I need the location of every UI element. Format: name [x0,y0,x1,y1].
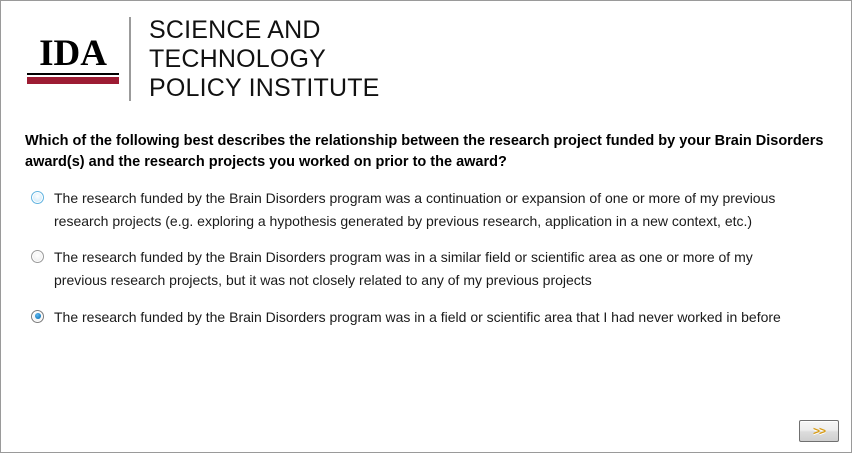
institute-line-2: TECHNOLOGY [149,45,380,74]
institute-name: SCIENCE AND TECHNOLOGY POLICY INSTITUTE [149,17,380,101]
radio-button-icon-1[interactable] [31,191,44,204]
radio-option-label-1: The research funded by the Brain Disorde… [54,187,799,232]
radio-group: The research funded by the Brain Disorde… [31,187,851,328]
logo-divider [129,17,131,101]
radio-option-1[interactable]: The research funded by the Brain Disorde… [31,187,851,232]
radio-button-icon-3[interactable] [31,310,44,323]
question-text: Which of the following best describes th… [25,131,825,173]
radio-button-icon-2[interactable] [31,250,44,263]
brand-header: IDA SCIENCE AND TECHNOLOGY POLICY INSTIT… [1,1,851,101]
radio-option-label-2: The research funded by the Brain Disorde… [54,246,799,291]
institute-line-3: POLICY INSTITUTE [149,74,380,103]
radio-option-2[interactable]: The research funded by the Brain Disorde… [31,246,851,291]
ida-black-rule [27,73,119,75]
institute-line-1: SCIENCE AND [149,16,380,45]
ida-red-bar [27,77,119,84]
next-page-button[interactable]: >> [799,420,839,442]
ida-wordmark: IDA [27,35,119,72]
radio-option-3[interactable]: The research funded by the Brain Disorde… [31,306,851,329]
survey-page: IDA SCIENCE AND TECHNOLOGY POLICY INSTIT… [0,0,852,453]
ida-logo: IDA [27,17,129,101]
navigation-bar: >> [799,420,839,442]
radio-option-label-3: The research funded by the Brain Disorde… [54,306,781,329]
double-chevron-right-icon: >> [813,425,825,437]
